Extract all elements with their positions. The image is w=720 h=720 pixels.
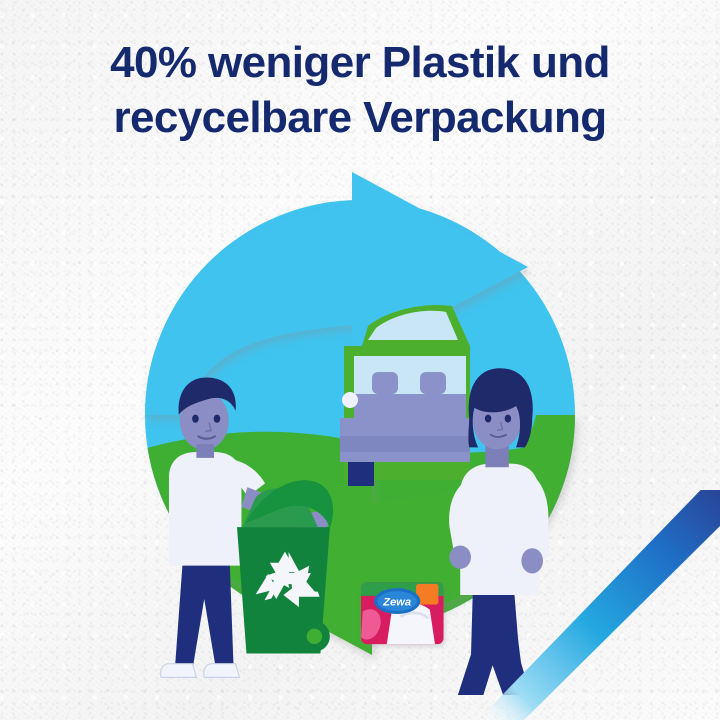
- woman-head: [468, 368, 532, 449]
- recycling-illustration: Zewa: [0, 150, 720, 695]
- headline: 40% weniger Plastik und recycelbare Verp…: [0, 36, 720, 145]
- zewa-package: Zewa: [361, 582, 444, 644]
- woman-hand-right: [521, 548, 543, 573]
- woman-hand-left: [449, 546, 471, 569]
- headline-line-2: recycelbare Verpackung: [34, 91, 686, 146]
- bin-wheel-inner: [307, 629, 322, 644]
- woman-legs: [453, 591, 536, 695]
- woman-sweater: [449, 464, 548, 595]
- man-legs: [175, 562, 234, 670]
- headline-line-1: 40% weniger Plastik und: [34, 36, 686, 91]
- man-shoes: [161, 664, 240, 678]
- zewa-logo-text: Zewa: [382, 596, 411, 608]
- poster-root: 40% weniger Plastik und recycelbare Verp…: [0, 0, 720, 720]
- zewa-logo: Zewa: [374, 588, 420, 614]
